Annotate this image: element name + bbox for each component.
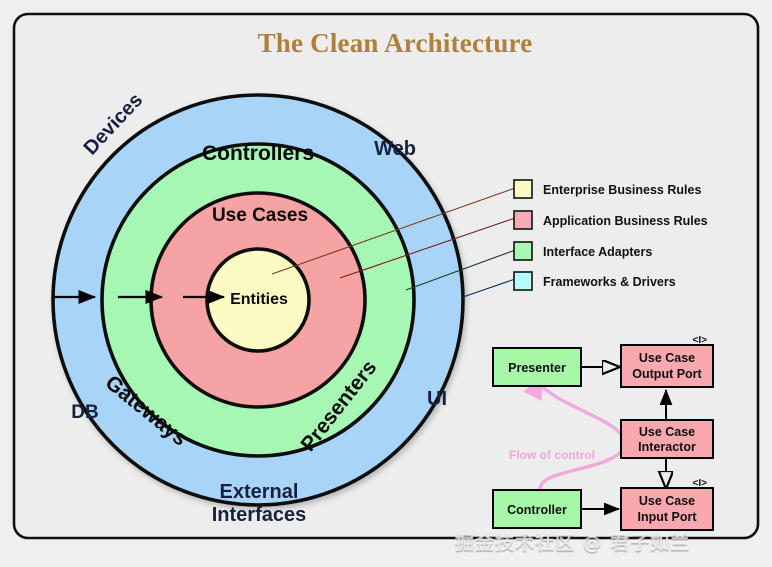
label-external: External bbox=[220, 481, 299, 503]
cyan-swatch bbox=[514, 272, 532, 290]
green-swatch bbox=[514, 242, 532, 260]
label-db: DB bbox=[71, 402, 98, 423]
label-web: Web bbox=[374, 138, 416, 160]
label-ui: UI bbox=[427, 388, 447, 410]
label-entities: Entities bbox=[230, 291, 288, 308]
output-port-label-line2: Output Port bbox=[632, 367, 702, 381]
flow-of-control-caption: Flow of control bbox=[509, 448, 595, 462]
input-port-label-line1: Use Case bbox=[639, 494, 695, 508]
box-controller: Controller bbox=[493, 490, 581, 528]
page-title: The Clean Architecture bbox=[258, 28, 533, 58]
interface-marker-output-port: <I> bbox=[693, 335, 708, 346]
output-port-label-line1: Use Case bbox=[639, 351, 695, 365]
diagram-canvas: The Clean Architecture Devices Web UI DB… bbox=[0, 0, 772, 567]
clean-architecture-svg: The Clean Architecture Devices Web UI DB… bbox=[0, 0, 772, 567]
box-use-case-interactor: Use Case Interactor bbox=[621, 420, 713, 458]
input-port-label-line2: Input Port bbox=[637, 510, 697, 524]
legend-label-frameworks: Frameworks & Drivers bbox=[543, 275, 676, 289]
interactor-label-line2: Interactor bbox=[638, 440, 696, 454]
box-presenter: Presenter bbox=[493, 348, 581, 386]
interface-marker-input-port: <I> bbox=[693, 478, 708, 489]
legend-item-enterprise: Enterprise Business Rules bbox=[514, 180, 701, 198]
yellow-swatch bbox=[514, 180, 532, 198]
interactor-label-line1: Use Case bbox=[639, 425, 695, 439]
label-use-cases: Use Cases bbox=[212, 205, 308, 226]
controller-label: Controller bbox=[507, 503, 567, 517]
legend-label-adapters: Interface Adapters bbox=[543, 245, 652, 259]
legend-label-application: Application Business Rules bbox=[543, 214, 708, 228]
pink-swatch bbox=[514, 211, 532, 229]
presenter-label: Presenter bbox=[508, 361, 566, 375]
label-controllers: Controllers bbox=[202, 142, 314, 165]
label-interfaces: Interfaces bbox=[212, 504, 307, 526]
legend-label-enterprise: Enterprise Business Rules bbox=[543, 183, 701, 197]
legend-item-application: Application Business Rules bbox=[514, 211, 708, 229]
